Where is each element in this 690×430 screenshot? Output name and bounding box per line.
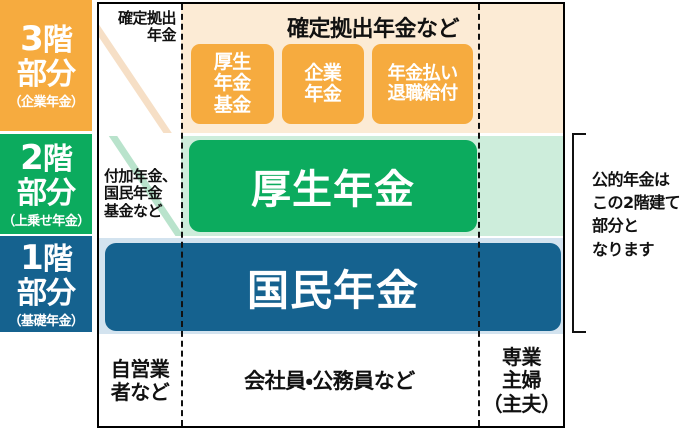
tier-2f-note: （上乗せ年金） [2, 215, 90, 228]
pension-structure-diagram: 3階 部分 （企業年金） 2階 部分 （上乗せ年金） 1階 部分 （基礎年金） … [0, 0, 690, 430]
corporate-pension-box-group: 厚生年金基金 企業年金 年金払い退職給付 [191, 44, 473, 124]
category-employees-public-servants: 会社員・公務員など [183, 336, 476, 426]
tier-3f-part: 部分 [17, 60, 75, 90]
pension-box-kigyo-nenkin[interactable]: 企業年金 [282, 44, 365, 124]
tier-label-1f: 1階 部分 （基礎年金） [0, 236, 92, 332]
employees-pension-band[interactable]: 厚生年金 [189, 140, 477, 232]
cell-2f-selfemployed: 付加年金、国民年金基金など [99, 136, 181, 236]
cell-3f-selfemployed-label: 確定拠出年金 [99, 10, 176, 45]
tier-1f-title: 1階 [20, 241, 72, 275]
category-dependent-spouse: 専業主婦（主夫） [480, 336, 563, 426]
tier-1f-floor-word: 階 [43, 242, 72, 277]
tier-2f-part: 部分 [17, 179, 75, 209]
cell-2f-selfemployed-label: 付加年金、国民年金基金など [104, 168, 181, 220]
tier-3f-note: （企業年金） [8, 96, 83, 109]
pension-box-nenkin-barai-taishoku-kyufu[interactable]: 年金払い退職給付 [372, 44, 473, 124]
column-divider-right [478, 4, 480, 426]
tier-1f-number: 1 [20, 238, 43, 278]
column-divider-left [181, 4, 183, 426]
tier-2f-number: 2 [20, 138, 43, 178]
defined-contribution-title: 確定拠出年金など [183, 11, 563, 43]
tier-3f-number: 3 [20, 19, 43, 59]
tier-1f-part: 部分 [17, 279, 75, 309]
pension-box-kosei-nenkin-kikin[interactable]: 厚生年金基金 [191, 44, 274, 124]
cell-3f-selfemployed: 確定拠出年金 [99, 4, 181, 133]
tier-label-3f: 3階 部分 （企業年金） [0, 0, 92, 131]
category-self-employed: 自営業者など [99, 336, 181, 426]
tier-3f-floor-word: 階 [43, 23, 72, 58]
public-pension-annotation: 公的年金はこの2階建て部分となります [592, 168, 688, 261]
national-pension-band[interactable]: 国民年金 [105, 243, 561, 331]
tier-3f-title: 3階 [20, 22, 72, 56]
public-pension-bracket-icon [572, 133, 586, 333]
tier-label-2f: 2階 部分 （上乗せ年金） [0, 134, 92, 234]
tier-1f-note: （基礎年金） [8, 315, 83, 328]
pension-grid: 確定拠出年金 付加年金、国民年金基金など 確定拠出年金など 厚生年金基金 企業年… [97, 2, 565, 428]
tier-2f-floor-word: 階 [43, 142, 72, 177]
tier-2f-title: 2階 [20, 141, 72, 175]
